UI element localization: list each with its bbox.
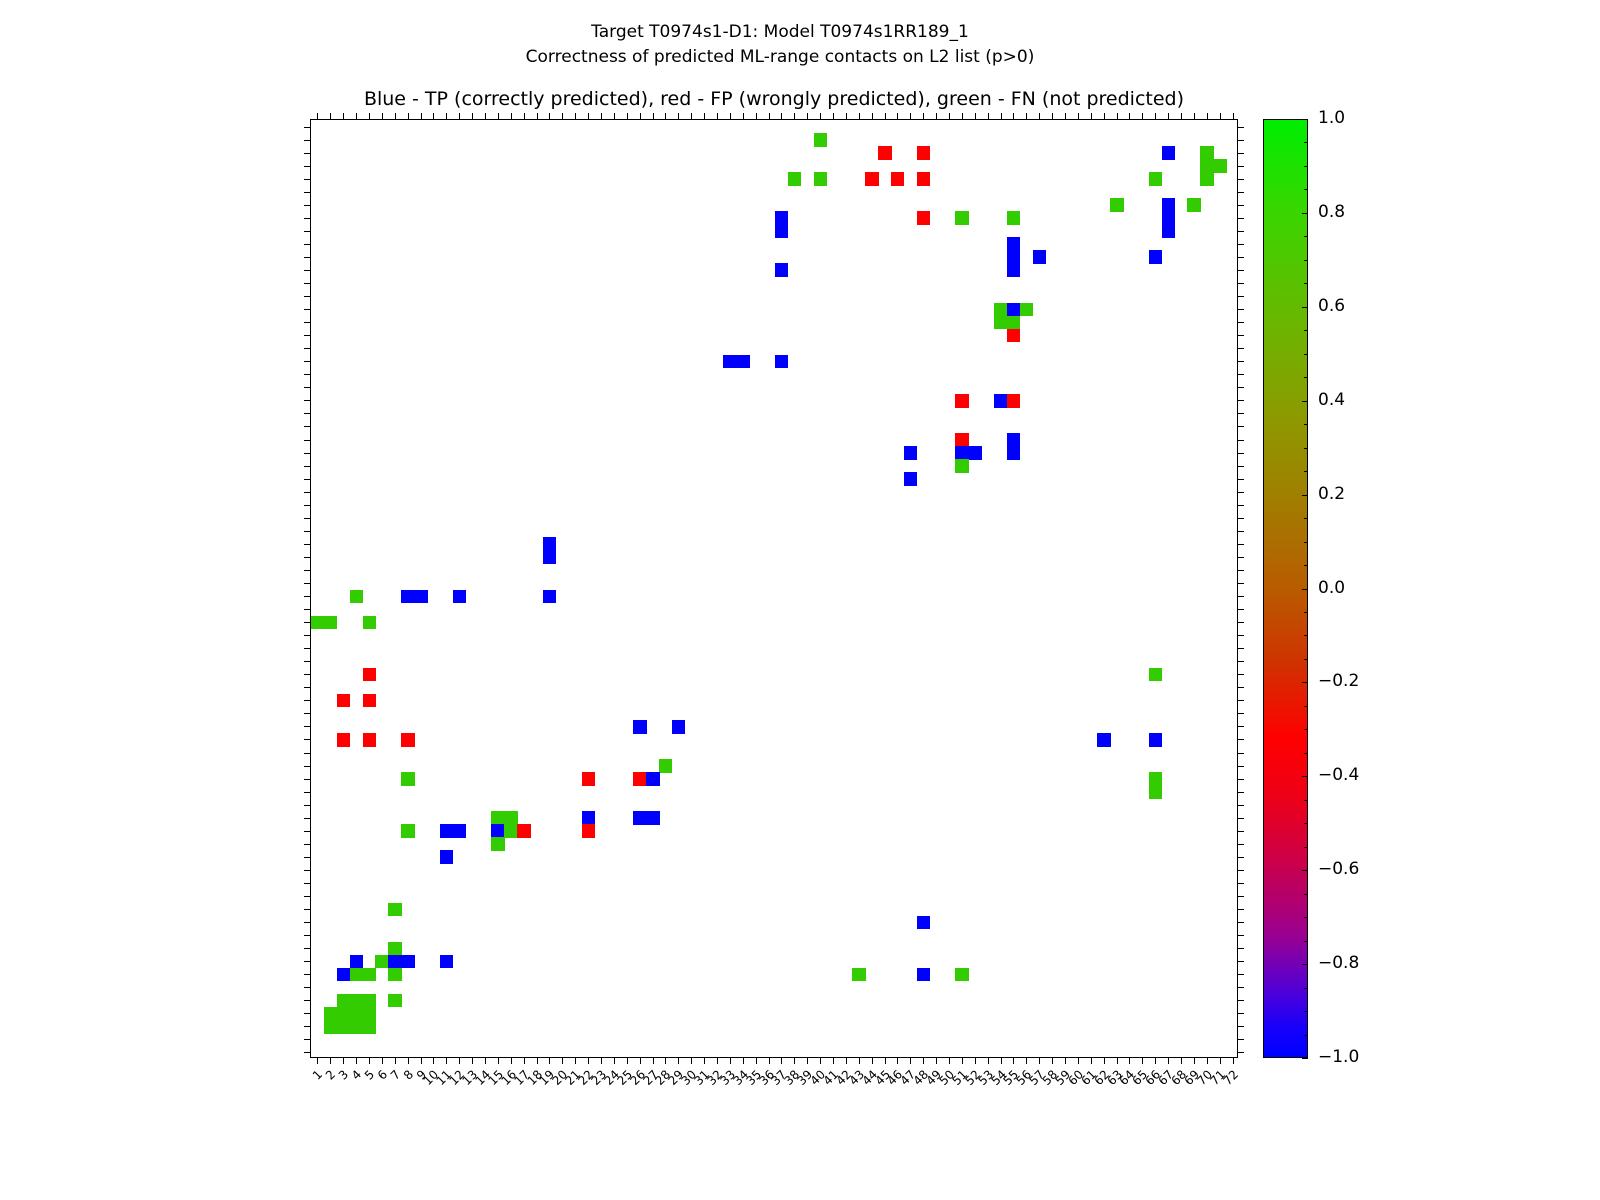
- y-axis-tick-right: [1237, 739, 1244, 740]
- contact-cell: [440, 824, 453, 838]
- y-axis-tick-right: [1237, 896, 1244, 897]
- contact-cell: [491, 811, 504, 825]
- x-axis-tick-top: [678, 113, 679, 120]
- x-axis-tick-top: [408, 113, 409, 120]
- contact-cell: [337, 733, 350, 747]
- x-axis-tick-top: [923, 113, 924, 120]
- y-axis-tick-right: [1237, 466, 1244, 467]
- contact-cell: [337, 968, 350, 982]
- x-axis-tick-top: [537, 113, 538, 120]
- y-axis-tick: [304, 218, 311, 219]
- x-axis-tick-top: [614, 113, 615, 120]
- contact-cell: [350, 968, 363, 982]
- contact-cell: [633, 772, 646, 786]
- contact-cell: [1020, 303, 1033, 317]
- colorbar-minor-tick: [1304, 823, 1308, 824]
- x-axis-tick: [317, 1057, 318, 1064]
- y-axis-tick: [304, 531, 311, 532]
- y-axis-tick-right: [1237, 218, 1244, 219]
- x-axis-tick-top: [356, 113, 357, 120]
- x-axis-tick: [459, 1057, 460, 1064]
- contact-cell: [1149, 785, 1162, 799]
- y-axis-tick-right: [1237, 387, 1244, 388]
- x-axis-tick: [498, 1057, 499, 1064]
- x-axis-tick: [472, 1057, 473, 1064]
- x-axis-tick-top: [846, 113, 847, 120]
- colorbar-minor-tick: [1304, 847, 1308, 848]
- x-axis-tick: [1194, 1057, 1195, 1064]
- y-axis-tick: [304, 792, 311, 793]
- y-axis-tick: [304, 557, 311, 558]
- x-axis-tick-top: [975, 113, 976, 120]
- x-axis-tick: [781, 1057, 782, 1064]
- colorbar-minor-tick: [1304, 941, 1308, 942]
- x-axis-tick: [549, 1057, 550, 1064]
- colorbar-minor-tick: [1304, 706, 1308, 707]
- y-axis-tick: [304, 818, 311, 819]
- y-axis-tick-right: [1237, 766, 1244, 767]
- contact-cell: [917, 172, 930, 186]
- y-axis-tick-right: [1237, 361, 1244, 362]
- contact-cell: [440, 850, 453, 864]
- contact-cell: [324, 616, 337, 630]
- colorbar-tick-label: 0.0: [1318, 580, 1345, 597]
- contact-cell: [375, 955, 388, 969]
- y-axis-tick-right: [1237, 244, 1244, 245]
- x-axis-tick: [408, 1057, 409, 1064]
- contact-cell: [633, 811, 646, 825]
- x-axis-tick-top: [743, 113, 744, 120]
- y-axis-tick-right: [1237, 609, 1244, 610]
- x-axis-tick-top: [949, 113, 950, 120]
- x-axis-tick: [833, 1057, 834, 1064]
- y-axis-tick-right: [1237, 883, 1244, 884]
- y-axis-tick: [304, 753, 311, 754]
- y-axis-tick: [304, 374, 311, 375]
- contact-cell: [1149, 250, 1162, 264]
- contact-cell: [1149, 172, 1162, 186]
- y-axis-tick-right: [1237, 792, 1244, 793]
- y-axis-tick-right: [1237, 713, 1244, 714]
- x-axis-tick: [1220, 1057, 1221, 1064]
- x-axis-tick: [614, 1057, 615, 1064]
- colorbar-minor-tick: [1304, 354, 1308, 355]
- x-axis-tick-top: [820, 113, 821, 120]
- x-axis-tick-top: [588, 113, 589, 120]
- contact-cell: [1007, 433, 1020, 447]
- contact-cell: [723, 355, 736, 369]
- contact-cell: [1007, 263, 1020, 277]
- contact-cell: [401, 772, 414, 786]
- x-axis-tick-top: [1220, 113, 1221, 120]
- x-axis-tick-top: [769, 113, 770, 120]
- y-axis-tick-right: [1237, 335, 1244, 336]
- x-axis-tick-top: [524, 113, 525, 120]
- colorbar-minor-tick: [1304, 166, 1308, 167]
- y-axis-tick-right: [1237, 622, 1244, 623]
- y-axis-tick-right: [1237, 570, 1244, 571]
- colorbar-minor-tick: [1304, 377, 1308, 378]
- contact-cell: [543, 590, 556, 604]
- y-axis-tick-right: [1237, 205, 1244, 206]
- colorbar-minor-tick: [1304, 729, 1308, 730]
- x-axis-tick: [627, 1057, 628, 1064]
- contact-cell: [1007, 303, 1020, 317]
- x-axis-tick: [1233, 1057, 1234, 1064]
- y-axis-tick: [304, 518, 311, 519]
- x-axis-tick: [588, 1057, 589, 1064]
- x-axis-tick: [1052, 1057, 1053, 1064]
- y-axis-tick: [304, 257, 311, 258]
- y-axis-tick-right: [1237, 648, 1244, 649]
- y-axis-tick: [304, 779, 311, 780]
- y-axis-tick: [304, 283, 311, 284]
- colorbar-minor-tick: [1304, 635, 1308, 636]
- x-axis-tick: [601, 1057, 602, 1064]
- x-axis-tick: [1065, 1057, 1066, 1064]
- contact-cell: [582, 811, 595, 825]
- colorbar-minor-tick: [1304, 1011, 1308, 1012]
- y-axis-tick-right: [1237, 687, 1244, 688]
- contact-cell: [1007, 316, 1020, 330]
- x-axis-tick-top: [691, 113, 692, 120]
- colorbar-minor-tick: [1304, 495, 1308, 496]
- y-axis-tick: [304, 961, 311, 962]
- colorbar-minor-tick: [1304, 589, 1308, 590]
- y-axis-tick: [304, 596, 311, 597]
- y-axis-tick: [304, 1000, 311, 1001]
- contact-cell: [504, 811, 517, 825]
- x-axis-tick-top: [897, 113, 898, 120]
- x-axis-tick-top: [833, 113, 834, 120]
- x-axis-tick: [1039, 1057, 1040, 1064]
- y-axis-tick-right: [1237, 544, 1244, 545]
- x-axis-tick-top: [1039, 113, 1040, 120]
- y-axis-tick: [304, 166, 311, 167]
- contact-cell: [363, 668, 376, 682]
- x-axis-tick: [807, 1057, 808, 1064]
- contact-cell: [994, 394, 1007, 408]
- x-axis-tick: [717, 1057, 718, 1064]
- y-axis-tick: [304, 922, 311, 923]
- contact-cell: [955, 211, 968, 225]
- x-axis-tick-top: [1026, 113, 1027, 120]
- y-axis-tick-right: [1237, 726, 1244, 727]
- y-axis-tick: [304, 205, 311, 206]
- contact-cell: [1110, 198, 1123, 212]
- x-axis-tick-top: [910, 113, 911, 120]
- contact-cell: [1149, 668, 1162, 682]
- x-axis-tick-top: [640, 113, 641, 120]
- y-axis-tick-right: [1237, 400, 1244, 401]
- x-axis-tick: [485, 1057, 486, 1064]
- contact-map-plot: [310, 119, 1238, 1058]
- y-axis-tick-right: [1237, 753, 1244, 754]
- title-line-1: Target T0974s1-D1: Model T0974s1RR189_1: [0, 20, 1560, 45]
- y-axis-tick: [304, 1039, 311, 1040]
- contact-cell: [504, 824, 517, 838]
- contact-cell: [582, 772, 595, 786]
- y-axis-tick-right: [1237, 140, 1244, 141]
- x-axis-tick-top: [433, 113, 434, 120]
- x-axis-tick-top: [756, 113, 757, 120]
- x-axis-tick: [962, 1057, 963, 1064]
- x-axis-tick-top: [859, 113, 860, 120]
- x-axis-tick-top: [1233, 113, 1234, 120]
- x-axis-tick-top: [1207, 113, 1208, 120]
- contact-map-cells: [311, 120, 1237, 1057]
- contact-cell: [775, 211, 788, 225]
- x-axis-tick-top: [395, 113, 396, 120]
- y-axis-tick: [304, 544, 311, 545]
- contact-cell: [363, 733, 376, 747]
- y-axis-tick-right: [1237, 192, 1244, 193]
- contact-cell: [363, 994, 376, 1008]
- y-axis-tick: [304, 192, 311, 193]
- y-axis-tick-right: [1237, 270, 1244, 271]
- x-axis-tick: [369, 1057, 370, 1064]
- contact-cell: [955, 433, 968, 447]
- colorbar-minor-tick: [1304, 213, 1308, 214]
- contact-cell: [736, 355, 749, 369]
- x-axis-tick-top: [1001, 113, 1002, 120]
- x-axis-tick-top: [665, 113, 666, 120]
- colorbar-tick-label: −1.0: [1318, 1049, 1359, 1066]
- x-axis-tick-top: [781, 113, 782, 120]
- y-axis-tick-right: [1237, 453, 1244, 454]
- contact-cell: [994, 303, 1007, 317]
- y-axis-tick-right: [1237, 348, 1244, 349]
- contact-cell: [1007, 250, 1020, 264]
- colorbar-minor-tick: [1304, 119, 1308, 120]
- contact-cell: [955, 394, 968, 408]
- x-axis-tick: [1207, 1057, 1208, 1064]
- x-axis-tick-top: [1091, 113, 1092, 120]
- contact-cell: [1200, 172, 1213, 186]
- contact-cell: [891, 172, 904, 186]
- x-axis-tick: [769, 1057, 770, 1064]
- y-axis-tick: [304, 857, 311, 858]
- y-axis-tick: [304, 570, 311, 571]
- x-axis-tick: [421, 1057, 422, 1064]
- y-axis-tick-right: [1237, 557, 1244, 558]
- y-axis-tick: [304, 231, 311, 232]
- contact-cell: [363, 1007, 376, 1021]
- contact-cell: [350, 590, 363, 604]
- y-axis-tick: [304, 844, 311, 845]
- contact-cell: [491, 837, 504, 851]
- y-axis-tick-right: [1237, 596, 1244, 597]
- y-axis-tick-right: [1237, 1052, 1244, 1053]
- y-axis-tick: [304, 661, 311, 662]
- contact-cell: [311, 616, 324, 630]
- x-axis-tick: [1001, 1057, 1002, 1064]
- x-axis-tick: [704, 1057, 705, 1064]
- contact-cell: [904, 472, 917, 486]
- contact-cell: [852, 968, 865, 982]
- y-axis-tick: [304, 179, 311, 180]
- x-axis-tick: [923, 1057, 924, 1064]
- y-axis-tick-right: [1237, 961, 1244, 962]
- contact-cell: [363, 1020, 376, 1034]
- contact-cell: [350, 1020, 363, 1034]
- x-axis-tick: [678, 1057, 679, 1064]
- x-axis-tick: [949, 1057, 950, 1064]
- figure-subtitle: Blue - TP (correctly predicted), red - F…: [310, 88, 1238, 110]
- colorbar-minor-tick: [1304, 776, 1308, 777]
- contact-cell: [917, 916, 930, 930]
- y-axis-tick-right: [1237, 805, 1244, 806]
- x-axis-tick-top: [1168, 113, 1169, 120]
- contact-cell: [788, 172, 801, 186]
- x-axis-tick: [936, 1057, 937, 1064]
- x-axis-tick: [653, 1057, 654, 1064]
- contact-cell: [401, 733, 414, 747]
- contact-cell: [388, 903, 401, 917]
- y-axis-tick: [304, 674, 311, 675]
- x-axis-tick-top: [1052, 113, 1053, 120]
- contact-cell: [814, 133, 827, 147]
- x-axis-tick: [897, 1057, 898, 1064]
- y-axis-tick: [304, 896, 311, 897]
- contact-cell: [646, 811, 659, 825]
- contact-cell: [1007, 394, 1020, 408]
- y-axis-tick: [304, 440, 311, 441]
- y-axis-tick: [304, 426, 311, 427]
- y-axis-tick-right: [1237, 870, 1244, 871]
- contact-cell: [350, 955, 363, 969]
- y-axis-tick: [304, 296, 311, 297]
- x-axis-tick: [665, 1057, 666, 1064]
- contact-cell: [453, 824, 466, 838]
- contact-cell: [440, 955, 453, 969]
- x-axis-tick-top: [1065, 113, 1066, 120]
- contact-cell: [517, 824, 530, 838]
- x-axis-tick: [1091, 1057, 1092, 1064]
- x-axis-tick: [988, 1057, 989, 1064]
- y-axis-tick: [304, 766, 311, 767]
- contact-cell: [1162, 146, 1175, 160]
- x-axis-tick-top: [511, 113, 512, 120]
- contact-cell: [363, 968, 376, 982]
- contact-cell: [865, 172, 878, 186]
- x-axis-tick: [885, 1057, 886, 1064]
- y-axis-tick-right: [1237, 374, 1244, 375]
- x-axis-tick: [1013, 1057, 1014, 1064]
- y-axis-tick-right: [1237, 922, 1244, 923]
- x-axis-tick-top: [653, 113, 654, 120]
- y-axis-tick: [304, 309, 311, 310]
- contact-cell: [543, 550, 556, 564]
- colorbar-minor-tick: [1304, 800, 1308, 801]
- y-axis-tick-right: [1237, 974, 1244, 975]
- x-axis-tick-top: [936, 113, 937, 120]
- colorbar-tick-label: −0.6: [1318, 861, 1359, 878]
- colorbar-tick-label: 0.6: [1318, 298, 1345, 315]
- y-axis-tick: [304, 322, 311, 323]
- x-axis-tick-top: [1194, 113, 1195, 120]
- x-axis-tick-top: [1104, 113, 1105, 120]
- x-axis-tick-top: [369, 113, 370, 120]
- contact-cell: [878, 146, 891, 160]
- colorbar-minor-tick: [1304, 565, 1308, 566]
- y-axis-tick: [304, 870, 311, 871]
- x-axis-tick-top: [1142, 113, 1143, 120]
- x-axis-tick-top: [730, 113, 731, 120]
- x-axis-tick-top: [1129, 113, 1130, 120]
- x-axis-tick-top: [704, 113, 705, 120]
- y-axis-tick: [304, 583, 311, 584]
- contact-cell: [337, 1007, 350, 1021]
- y-axis-tick: [304, 713, 311, 714]
- contact-cell: [337, 694, 350, 708]
- colorbar-tick-label: 0.2: [1318, 486, 1345, 503]
- y-axis-tick-right: [1237, 1013, 1244, 1014]
- y-axis-tick-right: [1237, 1039, 1244, 1040]
- y-axis-tick-right: [1237, 831, 1244, 832]
- contact-cell: [388, 942, 401, 956]
- y-axis-tick-right: [1237, 166, 1244, 167]
- colorbar-minor-tick: [1304, 964, 1308, 965]
- y-axis-tick: [304, 453, 311, 454]
- contact-cell: [1007, 211, 1020, 225]
- x-axis-tick: [691, 1057, 692, 1064]
- contact-cell: [350, 994, 363, 1008]
- contact-cell: [1162, 211, 1175, 225]
- x-axis-tick: [524, 1057, 525, 1064]
- x-axis-tick: [859, 1057, 860, 1064]
- y-axis-tick-right: [1237, 492, 1244, 493]
- contact-cell: [414, 590, 427, 604]
- y-axis-tick: [304, 622, 311, 623]
- y-axis-tick-right: [1237, 844, 1244, 845]
- contact-cell: [1007, 329, 1020, 343]
- y-axis-tick-right: [1237, 987, 1244, 988]
- x-axis-tick: [537, 1057, 538, 1064]
- colorbar-tick-label: 0.8: [1318, 204, 1345, 221]
- y-axis-tick: [304, 635, 311, 636]
- x-axis-tick-top: [627, 113, 628, 120]
- colorbar-minor-tick: [1304, 917, 1308, 918]
- colorbar-minor-tick: [1304, 260, 1308, 261]
- y-axis-tick-right: [1237, 818, 1244, 819]
- y-axis-tick-right: [1237, 413, 1244, 414]
- contact-cell: [388, 994, 401, 1008]
- x-axis-tick-top: [988, 113, 989, 120]
- y-axis-tick: [304, 244, 311, 245]
- y-axis-tick: [304, 466, 311, 467]
- y-axis-tick-right: [1237, 309, 1244, 310]
- x-axis-tick: [756, 1057, 757, 1064]
- contact-cell: [775, 224, 788, 238]
- colorbar-minor-tick: [1304, 988, 1308, 989]
- x-axis-tick-top: [1181, 113, 1182, 120]
- x-axis-tick-top: [562, 113, 563, 120]
- x-axis-tick: [511, 1057, 512, 1064]
- contact-cell: [363, 616, 376, 630]
- x-axis-tick-top: [794, 113, 795, 120]
- x-axis-tick-top: [885, 113, 886, 120]
- x-axis-tick: [975, 1057, 976, 1064]
- contact-cell: [904, 446, 917, 460]
- y-axis-tick-right: [1237, 505, 1244, 506]
- y-axis-tick: [304, 140, 311, 141]
- x-axis-tick: [330, 1057, 331, 1064]
- y-axis-tick-right: [1237, 935, 1244, 936]
- colorbar-minor-tick: [1304, 870, 1308, 871]
- colorbar-minor-tick: [1304, 542, 1308, 543]
- contact-cell: [543, 537, 556, 551]
